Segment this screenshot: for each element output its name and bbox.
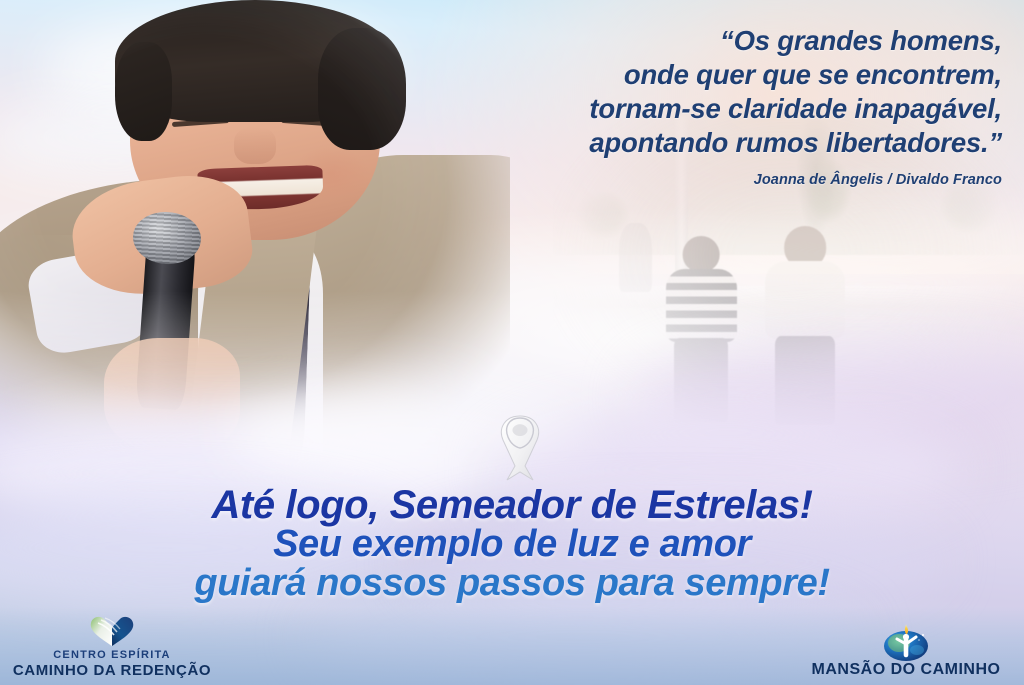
quote-line-1: “Os grandes homens, xyxy=(442,24,1002,58)
person-head xyxy=(683,236,720,273)
palm-tree xyxy=(930,179,1010,274)
walking-person-striped-shirt xyxy=(666,236,737,419)
distant-figure xyxy=(619,223,652,292)
quote-line-4: apontando rumos libertadores.” xyxy=(442,126,1002,160)
quote-attribution: Joanna de Ângelis / Divaldo Franco xyxy=(442,172,1002,188)
logo-left-line-2: CAMINHO DA REDENÇÃO xyxy=(13,662,211,679)
hands-heart-icon xyxy=(86,613,138,649)
person-torso xyxy=(666,269,737,342)
quote-line-2: onde quer que se encontrem, xyxy=(442,58,1002,92)
mourning-ribbon-icon xyxy=(489,408,551,486)
walking-person-white-shirt xyxy=(765,226,845,421)
logo-mansao-do-caminho: MANSÃO DO CAMINHO xyxy=(798,625,1014,679)
person-legs xyxy=(674,338,728,422)
headline-block: Até logo, Semeador de Estrelas! Seu exem… xyxy=(0,486,1024,603)
headline-line-3: guiará nossos passos para sempre! xyxy=(0,564,1024,603)
portrait-divaldo-franco-icon xyxy=(0,0,510,470)
globe-figure-flame-icon xyxy=(879,625,933,661)
headline-line-1: Até logo, Semeador de Estrelas! xyxy=(0,486,1024,525)
hand-holding-microphone xyxy=(104,338,239,451)
quote-line-3: tornam-se claridade inapagável, xyxy=(442,92,1002,126)
hair-side-left xyxy=(115,42,172,141)
logo-right-label: MANSÃO DO CAMINHO xyxy=(812,661,1001,679)
logo-centro-espirita-caminho-da-redencao: CENTRO ESPÍRITA CAMINHO DA REDENÇÃO xyxy=(14,613,210,679)
nose xyxy=(234,127,276,165)
tribute-poster: “Os grandes homens, onde quer que se enc… xyxy=(0,0,1024,685)
logo-left-line-1: CENTRO ESPÍRITA xyxy=(53,649,170,662)
person-torso xyxy=(765,261,845,339)
quote-block: “Os grandes homens, onde quer que se enc… xyxy=(442,24,1002,188)
headline-line-2: Seu exemplo de luz e amor xyxy=(0,525,1024,564)
person-legs xyxy=(775,336,836,426)
hair-side-right xyxy=(318,28,406,150)
